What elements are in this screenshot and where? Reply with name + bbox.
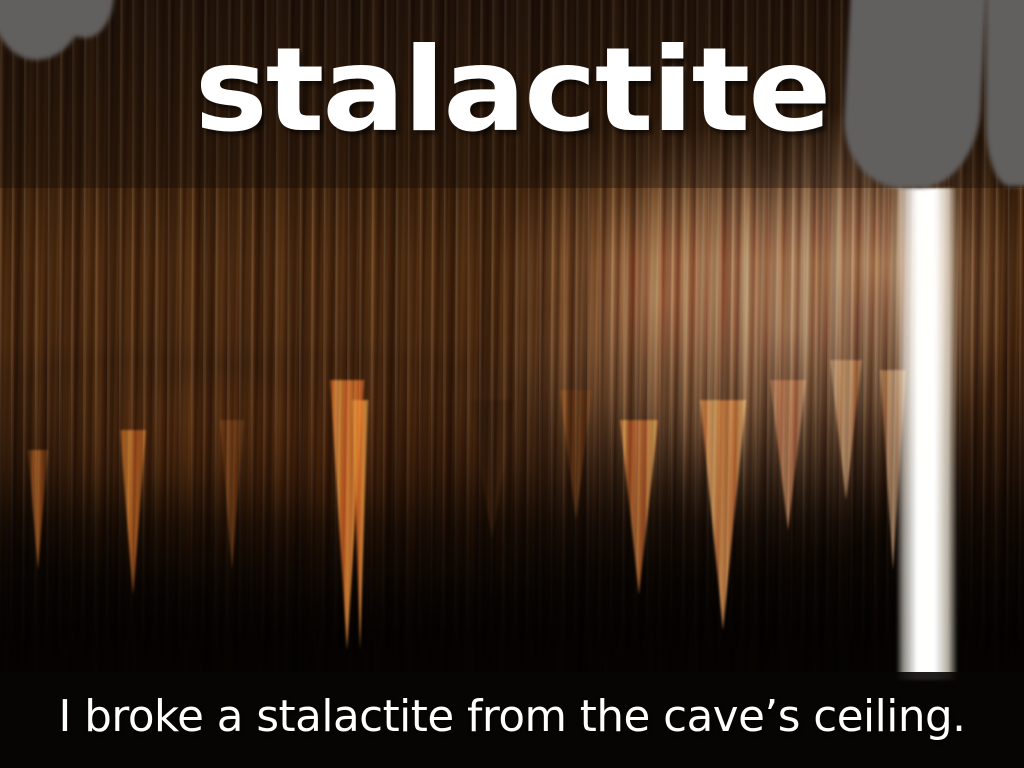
slide-root: stalactite I broke a stalactite from the… <box>0 0 1024 768</box>
slide-title: stalactite <box>0 0 1024 188</box>
slide-caption: I broke a stalactite from the cave’s cei… <box>5 672 1019 768</box>
cave-light-column <box>896 188 958 680</box>
